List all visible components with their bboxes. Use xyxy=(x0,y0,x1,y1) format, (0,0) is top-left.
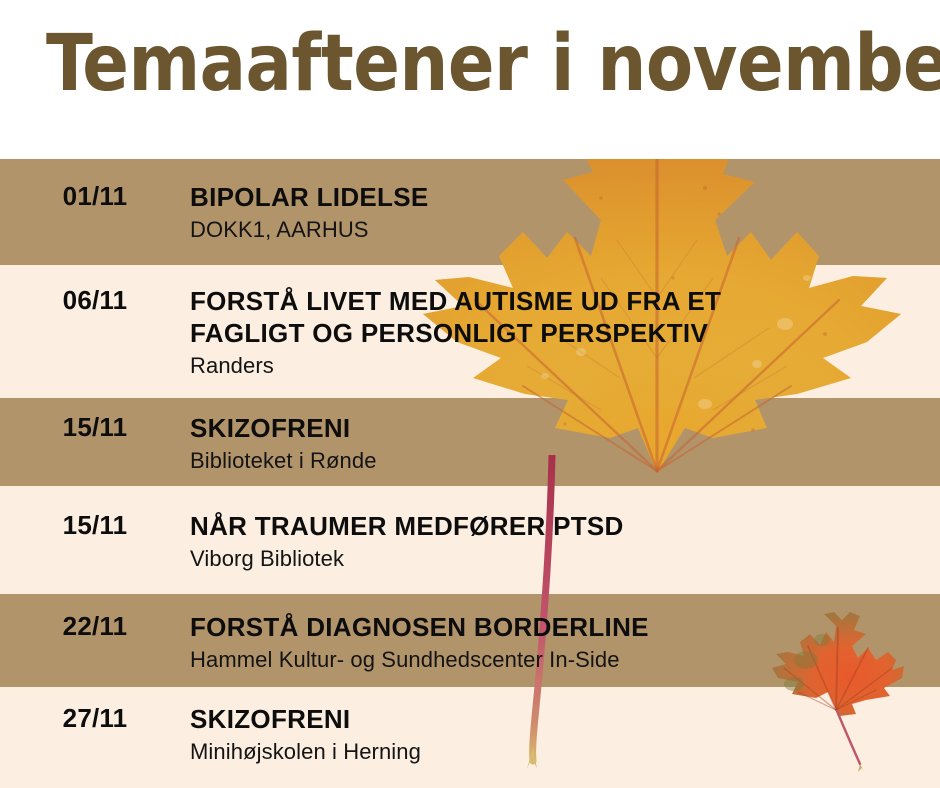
event-body: SKIZOFRENIMinihøjskolen i Herning xyxy=(190,703,940,766)
event-title: FORSTÅ LIVET MED AUTISME UD FRA ET FAGLI… xyxy=(190,285,922,349)
schedule-row[interactable]: 27/11SKIZOFRENIMinihøjskolen i Herning xyxy=(0,687,940,788)
poster-header: Temaaftener i november xyxy=(0,0,940,159)
schedule-row[interactable]: 15/11SKIZOFRENIBiblioteket i Rønde xyxy=(0,398,940,500)
event-body: FORSTÅ DIAGNOSEN BORDERLINEHammel Kultur… xyxy=(190,611,940,674)
event-date: 27/11 xyxy=(0,703,190,734)
event-body: FORSTÅ LIVET MED AUTISME UD FRA ET FAGLI… xyxy=(190,285,940,380)
event-body: BIPOLAR LIDELSEDOKK1, AARHUS xyxy=(190,181,940,244)
event-title: FORSTÅ DIAGNOSEN BORDERLINE xyxy=(190,611,922,643)
event-venue: DOKK1, AARHUS xyxy=(190,216,922,244)
event-venue: Biblioteket i Rønde xyxy=(190,447,922,475)
event-body: NÅR TRAUMER MEDFØRER PTSDViborg Bibliote… xyxy=(190,510,940,573)
event-title: NÅR TRAUMER MEDFØRER PTSD xyxy=(190,510,922,542)
event-venue: Randers xyxy=(190,352,922,380)
event-venue: Hammel Kultur- og Sundhedscenter In-Side xyxy=(190,646,922,674)
poster-canvas: 01/11BIPOLAR LIDELSEDOKK1, AARHUS06/11FO… xyxy=(0,0,940,788)
event-venue: Minihøjskolen i Herning xyxy=(190,738,922,766)
event-venue: Viborg Bibliotek xyxy=(190,545,922,573)
event-date: 01/11 xyxy=(0,181,190,212)
event-date: 06/11 xyxy=(0,285,190,316)
event-date: 15/11 xyxy=(0,510,190,541)
page-title: Temaaftener i november xyxy=(46,22,889,106)
event-date: 22/11 xyxy=(0,611,190,642)
event-date: 15/11 xyxy=(0,412,190,443)
event-title: BIPOLAR LIDELSE xyxy=(190,181,922,213)
schedule-row[interactable]: 06/11FORSTÅ LIVET MED AUTISME UD FRA ET … xyxy=(0,265,940,418)
event-title: SKIZOFRENI xyxy=(190,703,922,735)
event-title: SKIZOFRENI xyxy=(190,412,922,444)
event-body: SKIZOFRENIBiblioteket i Rønde xyxy=(190,412,940,475)
